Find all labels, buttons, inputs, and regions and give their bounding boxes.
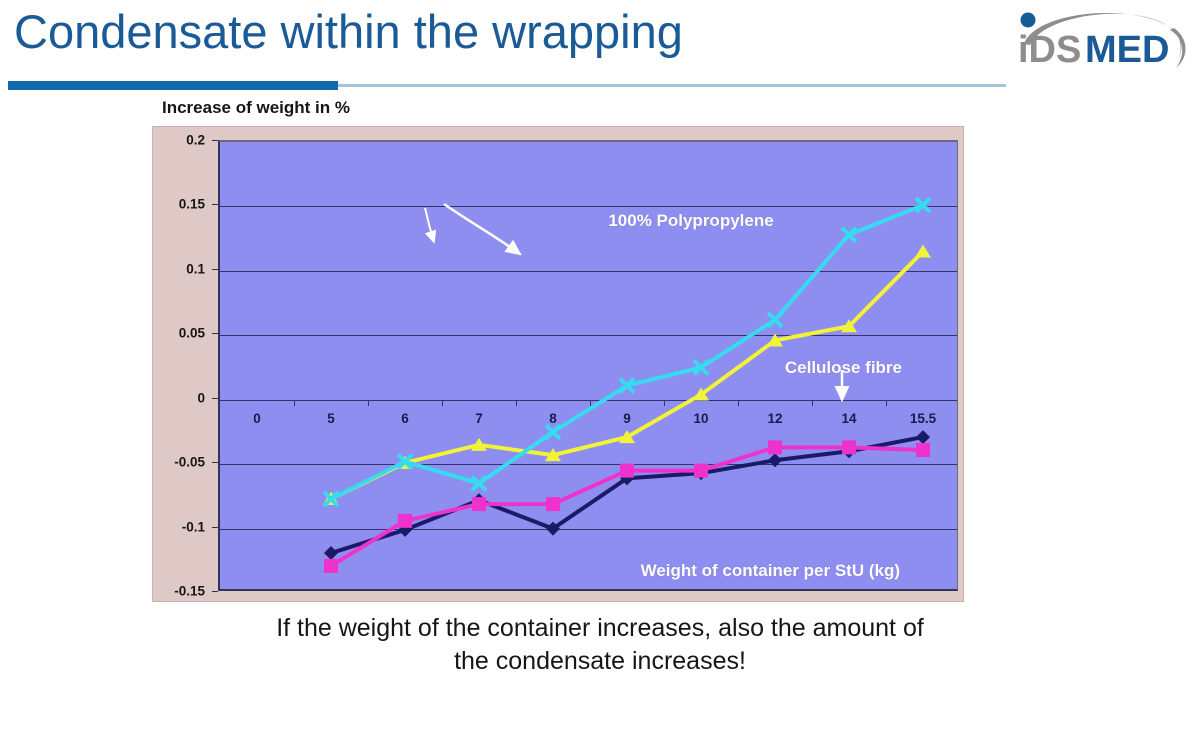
arrow-polypropylene-icon bbox=[425, 208, 434, 242]
y-tick-label: 0.1 bbox=[186, 261, 205, 276]
logo-text-med: MED bbox=[1085, 29, 1169, 71]
chart-frame: 05678910121415.5 100% Polypropylene Cell… bbox=[152, 126, 964, 602]
chart-plot-area: 05678910121415.5 100% Polypropylene Cell… bbox=[218, 140, 958, 591]
y-tick-mark bbox=[212, 527, 218, 528]
y-tick-label: -0.05 bbox=[174, 455, 205, 470]
idsmed-logo: iDS MED bbox=[1006, 4, 1192, 74]
y-tick-mark bbox=[212, 269, 218, 270]
y-tick-label: 0.15 bbox=[179, 197, 205, 212]
arrow-cellulose-icon bbox=[444, 204, 520, 254]
slide-caption: If the weight of the container increases… bbox=[0, 612, 1200, 678]
page-title: Condensate within the wrapping bbox=[14, 4, 683, 59]
divider-accent-bar bbox=[8, 81, 338, 90]
annotation-cellulose: Cellulose fibre bbox=[785, 358, 902, 378]
y-tick-mark bbox=[212, 398, 218, 399]
y-tick-mark bbox=[212, 462, 218, 463]
divider-thin-line bbox=[338, 84, 1006, 87]
y-tick-mark bbox=[212, 204, 218, 205]
y-tick-label: 0.05 bbox=[179, 326, 205, 341]
chart-y-axis-title: Increase of weight in % bbox=[162, 98, 350, 118]
y-tick-label: 0.2 bbox=[186, 133, 205, 148]
caption-line-1: If the weight of the container increases… bbox=[0, 612, 1200, 645]
caption-line-2: the condensate increases! bbox=[0, 645, 1200, 678]
y-tick-label: 0 bbox=[197, 390, 205, 405]
y-tick-label: -0.15 bbox=[174, 584, 205, 599]
annotation-polypropylene: 100% Polypropylene bbox=[608, 211, 773, 231]
y-tick-mark bbox=[212, 591, 218, 592]
logo-text-ids: iDS bbox=[1018, 29, 1081, 71]
y-tick-mark bbox=[212, 140, 218, 141]
annotation-x-axis-title: Weight of container per StU (kg) bbox=[641, 561, 900, 581]
header-divider bbox=[8, 81, 1006, 90]
y-tick-label: -0.1 bbox=[182, 519, 205, 534]
logo-dot-icon bbox=[1021, 13, 1036, 28]
y-tick-mark bbox=[212, 333, 218, 334]
